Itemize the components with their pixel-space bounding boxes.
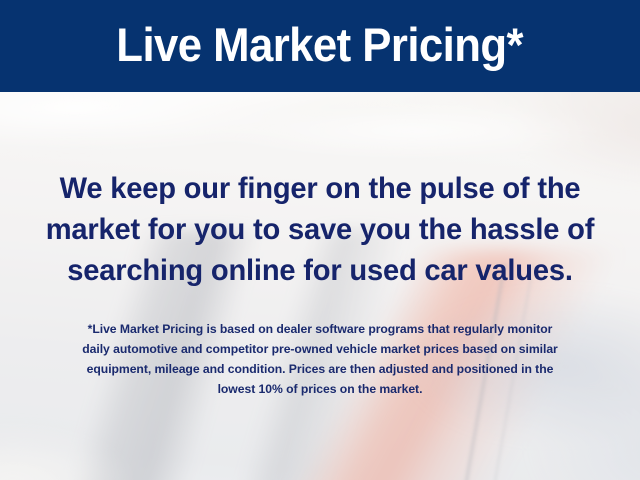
live-market-pricing-card: Live Market Pricing* We keep our finger … (0, 0, 640, 480)
header-banner: Live Market Pricing* (0, 0, 640, 92)
disclaimer-line-1: *Live Market Pricing is based on dealer … (24, 319, 616, 339)
headline-line-1: We keep our finger on the pulse of the (35, 168, 605, 209)
disclaimer-line-3: equipment, mileage and condition. Prices… (24, 359, 616, 379)
headline-line-2: market for you to save you the hassle of (35, 209, 605, 250)
disclaimer-line-4: lowest 10% of prices on the market. (24, 379, 616, 399)
headline-line-3: searching online for used car values. (35, 250, 605, 291)
disclaimer-line-2: daily automotive and competitor pre-owne… (24, 339, 616, 359)
headline-text: We keep our finger on the pulse of the m… (35, 168, 605, 291)
page-title: Live Market Pricing* (117, 21, 524, 72)
disclaimer-text: *Live Market Pricing is based on dealer … (24, 319, 616, 399)
card-content: We keep our finger on the pulse of the m… (0, 92, 640, 480)
